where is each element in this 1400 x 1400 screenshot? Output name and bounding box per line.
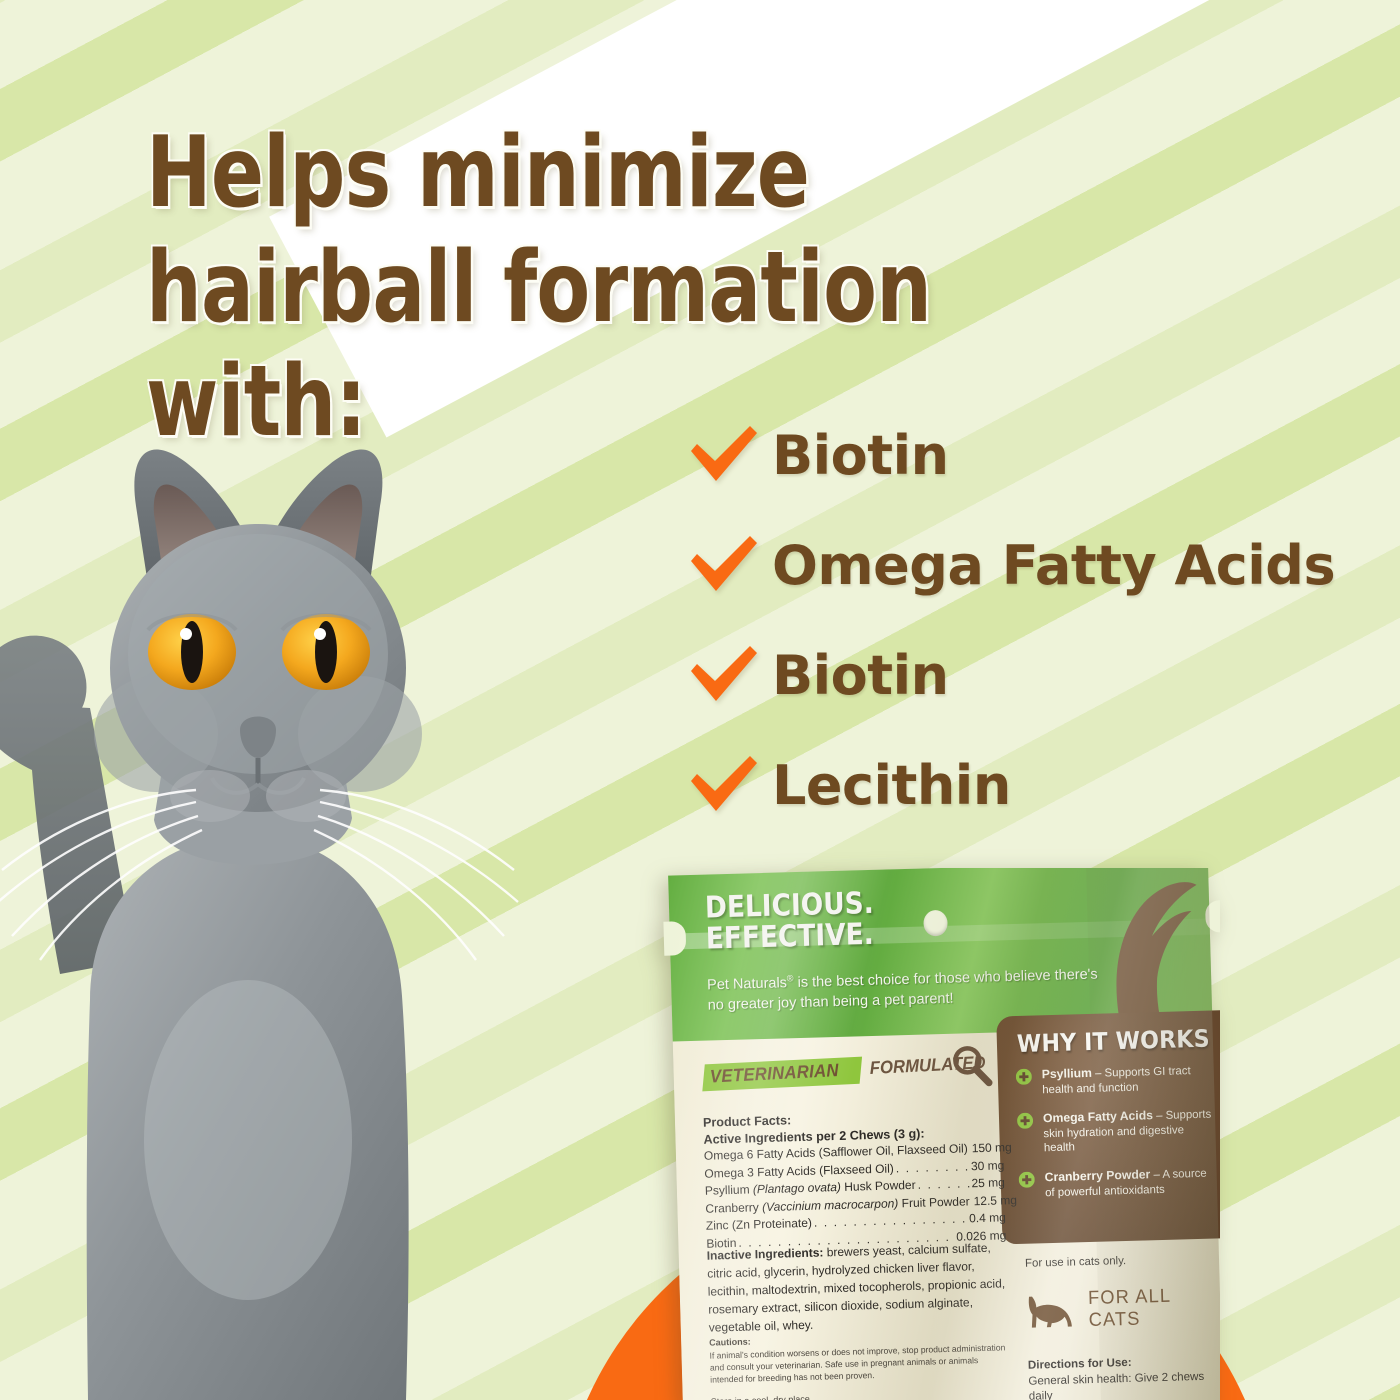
list-item: Biotin (676, 400, 1336, 510)
magnifier-icon (948, 1043, 995, 1090)
veterinarian-formulated-badge: VETERINARIAN FORMULATED (703, 1047, 994, 1099)
list-item: Omega Fatty Acids – Supports skin hydrat… (1017, 1107, 1216, 1157)
directions-block: Directions for Use: General skin health:… (1028, 1352, 1220, 1400)
fact-value: 150 mg (971, 1139, 1012, 1158)
for-all-cats-row: FOR ALL CATS (1026, 1284, 1220, 1334)
benefits-checklist: Biotin Omega Fatty Acids Biotin Lecithin (676, 400, 1336, 840)
brand-name: Pet Naturals (707, 975, 787, 993)
plus-circle-icon (1019, 1172, 1035, 1188)
product-facts-block: Product Facts: Active Ingredients per 2 … (703, 1106, 1007, 1253)
directions-label: Directions for Use: (1028, 1356, 1132, 1372)
cautions-label: Cautions: (709, 1337, 751, 1348)
plus-circle-icon (1016, 1069, 1032, 1085)
list-item: Cranberry Powder – A source of powerful … (1018, 1165, 1217, 1201)
product-package: DELICIOUS. EFFECTIVE. Pet Naturals® is t… (662, 868, 1220, 1400)
dash: – (1153, 1110, 1166, 1122)
leader-dots: . . . . . . . . . . . . . . (896, 1158, 970, 1178)
ingredient-name: Omega Fatty Acids (1043, 1108, 1153, 1125)
grey-cat-photo (0, 440, 580, 1400)
directions-text: General skin health: Give 2 chews daily (1028, 1369, 1204, 1400)
ingredient-name: Cranberry Powder (1044, 1167, 1150, 1184)
usage-column: For use in cats only. FOR ALL CATS Direc… (1025, 1252, 1220, 1400)
list-item: Lecithin (676, 730, 1336, 840)
fact-value: 30 mg (971, 1157, 1005, 1175)
checkmark-icon (676, 533, 772, 597)
ingredient-name: Psyllium (1042, 1066, 1092, 1081)
cautions-block: Cautions: If animal's condition worsens … (709, 1328, 1010, 1386)
cautions-text: If animal's condition worsens or does no… (709, 1342, 1005, 1385)
inactive-ingredients-label: Inactive Ingredients: (707, 1245, 824, 1262)
why-it-works-title: WHY IT WORKS (1017, 1025, 1211, 1058)
for-all-cats-label: FOR ALL CATS (1088, 1284, 1220, 1332)
list-item: Psyllium – Supports GI tract health and … (1016, 1062, 1215, 1098)
benefit-label: Lecithin (772, 754, 1011, 817)
fact-value: 0.4 mg (969, 1210, 1006, 1229)
package-headline: DELICIOUS. EFFECTIVE. (705, 888, 875, 955)
plus-circle-icon (1017, 1113, 1033, 1129)
dash: – (1092, 1068, 1105, 1080)
benefit-label: Biotin (772, 644, 949, 707)
benefit-label: Omega Fatty Acids (772, 534, 1335, 597)
fact-value: 12.5 mg (973, 1192, 1017, 1211)
benefit-label: Biotin (772, 424, 949, 487)
why-it-works-panel: WHY IT WORKS Psyllium – Supports GI trac… (996, 1010, 1220, 1244)
fact-value: 25 mg (971, 1175, 1005, 1193)
checkmark-icon (676, 643, 772, 707)
promo-image-canvas: Helps minimize hairball formation with: (0, 0, 1400, 1400)
inactive-ingredients-block: Inactive Ingredients: brewers yeast, cal… (706, 1238, 1018, 1337)
checkmark-icon (676, 753, 772, 817)
list-item: Biotin (676, 620, 1336, 730)
dash: – (1150, 1169, 1162, 1181)
why-it-works-list: Psyllium – Supports GI tract health and … (1016, 1062, 1218, 1215)
cat-silhouette-icon (1026, 1293, 1083, 1329)
leader-dots: . . . . . . . . . . . (917, 1176, 969, 1195)
list-item: Omega Fatty Acids (676, 510, 1336, 620)
checkmark-icon (676, 423, 772, 487)
